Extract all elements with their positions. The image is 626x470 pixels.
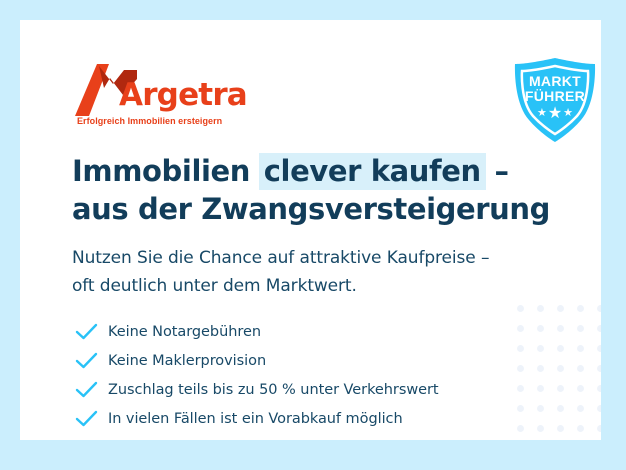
check-icon xyxy=(75,352,99,370)
decorative-dot xyxy=(577,405,584,412)
decorative-dot xyxy=(597,405,601,412)
decorative-dot xyxy=(577,425,584,432)
headline: Immobilien clever kaufen – aus der Zwang… xyxy=(72,152,542,228)
list-item: Zuschlag teils bis zu 50 % unter Verkehr… xyxy=(75,375,535,404)
decorative-dot xyxy=(577,305,584,312)
decorative-dot xyxy=(557,405,564,412)
decorative-dot xyxy=(597,385,601,392)
list-item-label: Keine Notargebühren xyxy=(108,324,261,340)
list-item: Keine Maklerprovision xyxy=(75,346,535,375)
decorative-dot xyxy=(557,305,564,312)
shield-icon xyxy=(509,56,601,144)
list-item-label: In vielen Fällen ist ein Vorabkauf mögli… xyxy=(108,411,403,427)
decorative-dot xyxy=(557,365,564,372)
decorative-dot xyxy=(577,385,584,392)
decorative-dot xyxy=(577,365,584,372)
decorative-dot xyxy=(597,345,601,352)
decorative-dot xyxy=(557,425,564,432)
decorative-dot xyxy=(597,365,601,372)
decorative-dot xyxy=(517,305,524,312)
decorative-dot xyxy=(577,345,584,352)
list-item-label: Keine Maklerprovision xyxy=(108,353,266,369)
decorative-dot xyxy=(537,325,544,332)
headline-line-2: aus der Zwangsversteigerung xyxy=(72,190,542,228)
headline-text-before: Immobilien xyxy=(72,154,260,188)
decorative-dot xyxy=(597,425,601,432)
check-icon xyxy=(75,410,99,428)
logo-tagline: Erfolgreich Immobilien ersteigern xyxy=(77,116,222,126)
promo-banner: Argetra Erfolgreich Immobilien ersteiger… xyxy=(0,0,626,470)
decorative-dot xyxy=(537,405,544,412)
list-item: In vielen Fällen ist ein Vorabkauf mögli… xyxy=(75,404,535,433)
markt-fuehrer-badge: MARKT FÜHRER ★ ★ ★ xyxy=(509,56,601,144)
benefit-list: Keine Notargebühren Keine Maklerprovisio… xyxy=(75,317,535,433)
check-icon xyxy=(75,323,99,341)
decorative-dot xyxy=(537,345,544,352)
headline-highlight: clever kaufen xyxy=(259,153,486,190)
promo-card: Argetra Erfolgreich Immobilien ersteiger… xyxy=(20,20,601,440)
subheadline-line-1: Nutzen Sie die Chance auf attraktive Kau… xyxy=(72,244,552,272)
subheadline-line-2: oft deutlich unter dem Marktwert. xyxy=(72,272,552,300)
logo-wordmark: Argetra xyxy=(119,80,247,111)
decorative-dot xyxy=(537,425,544,432)
decorative-dot xyxy=(557,385,564,392)
headline-text-after: – xyxy=(485,154,509,188)
headline-line-1: Immobilien clever kaufen – xyxy=(72,152,542,190)
decorative-dot xyxy=(537,365,544,372)
check-icon xyxy=(75,381,99,399)
decorative-dot xyxy=(597,305,601,312)
list-item-label: Zuschlag teils bis zu 50 % unter Verkehr… xyxy=(108,382,439,398)
decorative-dot xyxy=(557,325,564,332)
decorative-dot xyxy=(537,385,544,392)
decorative-dot xyxy=(577,325,584,332)
decorative-dot xyxy=(557,345,564,352)
decorative-dot xyxy=(597,325,601,332)
argetra-logo[interactable]: Argetra Erfolgreich Immobilien ersteiger… xyxy=(75,64,255,126)
subheadline: Nutzen Sie die Chance auf attraktive Kau… xyxy=(72,244,552,300)
list-item: Keine Notargebühren xyxy=(75,317,535,346)
decorative-dot xyxy=(537,305,544,312)
